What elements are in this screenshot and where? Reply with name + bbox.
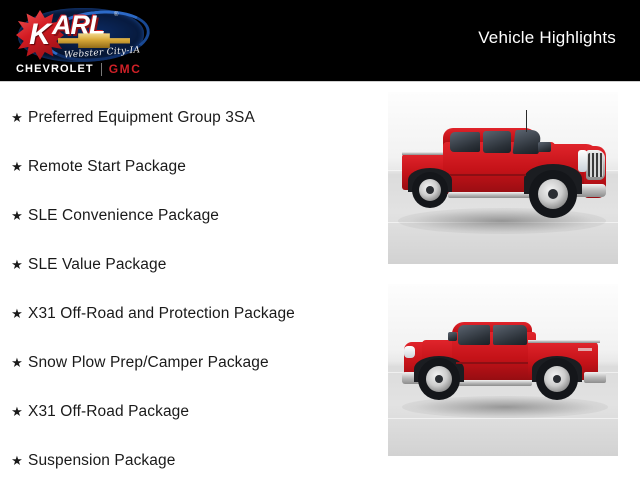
vehicle-highlights-list: ★ Preferred Equipment Group 3SA ★ Remote… [0,83,380,485]
highlight-label: Preferred Equipment Group 3SA [28,109,255,127]
star-bullet-icon: ★ [6,258,28,271]
list-item: ★ X31 Off-Road and Protection Package [6,289,380,338]
star-bullet-icon: ★ [6,356,28,369]
highlight-label: Suspension Package [28,452,175,470]
dealer-logo[interactable]: K ARL ® Webster City-IA CHEVROLET GMC [8,2,158,80]
vehicle-shadow [398,208,606,234]
floor-seam [388,418,618,419]
registered-trademark-icon: ® [114,12,118,18]
star-bullet-icon: ★ [6,405,28,418]
brand-divider [101,63,102,76]
list-item: ★ X31 Off-Road Package [6,387,380,436]
highlight-label: X31 Off-Road Package [28,403,189,421]
star-bullet-icon: ★ [6,160,28,173]
vehicle-photo-front-three-quarter[interactable] [388,92,618,264]
list-item: ★ Remote Start Package [6,142,380,191]
page-title: Vehicle Highlights [478,28,616,48]
star-bullet-icon: ★ [6,307,28,320]
page-header: K ARL ® Webster City-IA CHEVROLET GMC Ve… [0,0,640,82]
star-bullet-icon: ★ [6,209,28,222]
logo-brand-row: CHEVROLET GMC [16,62,152,76]
vehicle-photo-side-profile[interactable] [388,284,618,456]
gmc-brand-label: GMC [109,62,142,76]
star-bullet-icon: ★ [6,454,28,467]
star-bullet-icon: ★ [6,111,28,124]
highlight-label: SLE Value Package [28,256,166,274]
list-item: ★ Snow Plow Prep/Camper Package [6,338,380,387]
highlight-label: Remote Start Package [28,158,186,176]
list-item: ★ SLE Value Package [6,240,380,289]
list-item: ★ Preferred Equipment Group 3SA [6,93,380,142]
list-item: ★ SLE Convenience Package [6,191,380,240]
highlight-label: X31 Off-Road and Protection Package [28,305,295,323]
list-item: ★ Suspension Package [6,436,380,485]
highlight-label: Snow Plow Prep/Camper Package [28,354,269,372]
content-area: ★ Preferred Equipment Group 3SA ★ Remote… [0,83,640,480]
highlight-label: SLE Convenience Package [28,207,219,225]
chevrolet-brand-label: CHEVROLET [16,63,94,75]
